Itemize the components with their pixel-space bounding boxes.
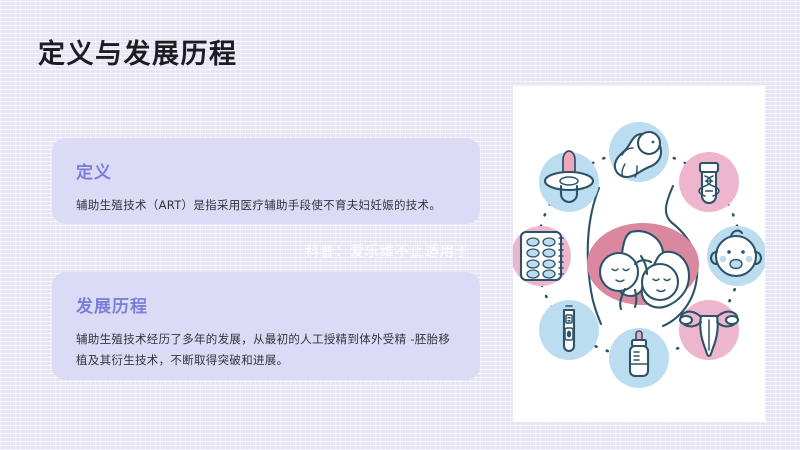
card-history-heading: 发展历程 <box>76 292 456 317</box>
pregnant-belly-icon <box>587 186 699 326</box>
uterus-icon <box>679 300 739 360</box>
pacifier-icon <box>539 151 599 212</box>
page-title: 定义与发展历程 <box>38 32 238 71</box>
baby-bottle-icon <box>609 328 669 388</box>
card-history-body: 辅助生殖技术经历了多年的发展，从最初的人工授精到体外受精 -胚胎移植及其衍生技术… <box>76 329 456 372</box>
fetus-icon <box>609 122 669 182</box>
illustration-panel: .ol { fill:none; stroke:#2b5468; stroke-… <box>513 86 765 422</box>
watermark-text: 科普：爱乐维不止适用于 <box>305 241 470 261</box>
card-definition-heading: 定义 <box>76 158 456 183</box>
card-history: 发展历程 辅助生殖技术经历了多年的发展，从最初的人工授精到体外受精 -胚胎移植及… <box>52 272 480 380</box>
art-cycle-diagram: .ol { fill:none; stroke:#2b5468; stroke-… <box>513 86 765 422</box>
baby-face-icon <box>707 226 765 286</box>
dna-test-tube-icon <box>679 152 739 212</box>
pregnancy-test-icon <box>539 300 599 360</box>
pill-blister-icon <box>513 226 571 286</box>
card-definition: 定义 辅助生殖技术（ART）是指采用医疗辅助手段使不育夫妇妊娠的技术。 <box>52 138 480 224</box>
card-definition-body: 辅助生殖技术（ART）是指采用医疗辅助手段使不育夫妇妊娠的技术。 <box>76 195 456 216</box>
